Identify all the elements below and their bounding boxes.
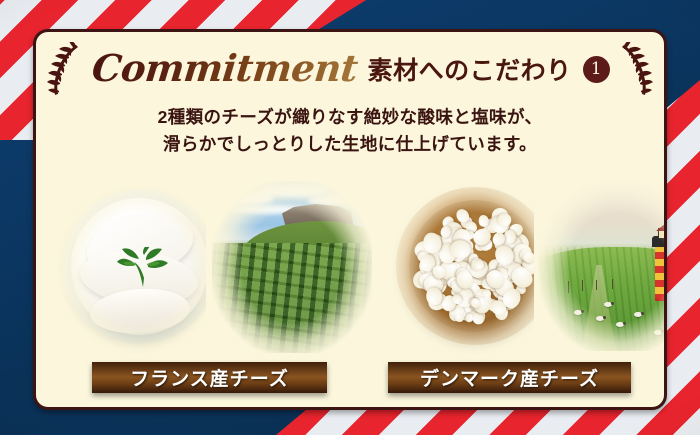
denmark-curd-bowl-photo xyxy=(388,175,558,360)
denmark-lighthouse-photo xyxy=(536,175,667,360)
caption-denmark: デンマーク産チーズ xyxy=(388,362,631,393)
laurel-branch-icon xyxy=(614,42,654,98)
title-japanese: 素材へのこだわり xyxy=(368,51,572,90)
caption-france: フランス産チーズ xyxy=(92,362,327,393)
photo-feather-edge xyxy=(388,175,558,360)
description-line-1: 2種類のチーズが織りなす絶妙な酸味と塩味が、 xyxy=(36,104,664,131)
step-number-badge: 1 xyxy=(583,56,610,83)
heading-row: Commitment 素材へのこだわり 1 xyxy=(36,44,664,96)
photo-feather-edge xyxy=(208,175,376,360)
promo-banner: Commitment 素材へのこだわり 1 xyxy=(0,0,700,435)
title-commitment: Commitment xyxy=(88,50,364,91)
photo-feather-edge xyxy=(536,175,667,360)
france-vineyard-photo xyxy=(208,175,376,360)
photo-feather-edge xyxy=(54,175,224,360)
lighthouse-finial xyxy=(664,218,667,224)
content-card: Commitment 素材へのこだわり 1 xyxy=(33,29,667,410)
description-text: 2種類のチーズが織りなす絶妙な酸味と塩味が、 滑らかでしっとりした生地に仕上げて… xyxy=(36,104,664,157)
france-cheese-bowl-photo xyxy=(54,175,224,360)
description-line-2: 滑らかでしっとりした生地に仕上げています。 xyxy=(36,131,664,158)
laurel-branch-icon xyxy=(46,42,86,98)
photo-strip xyxy=(36,175,664,360)
